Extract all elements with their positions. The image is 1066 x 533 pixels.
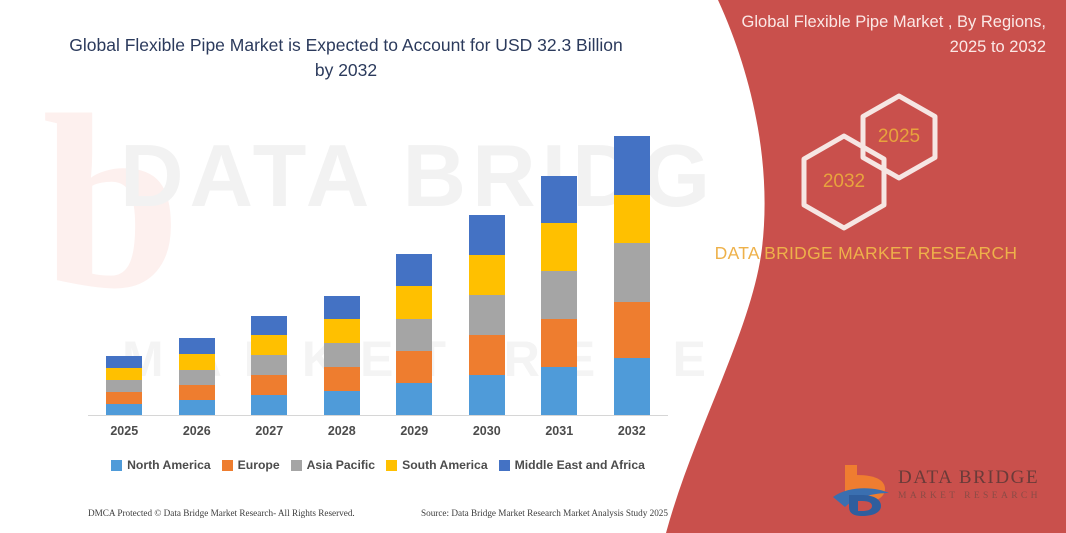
- legend-swatch-icon: [386, 460, 397, 471]
- stacked-bar: [106, 356, 142, 415]
- legend-swatch-icon: [291, 460, 302, 471]
- logo-line-1: DATA BRIDGE: [898, 467, 1041, 489]
- logo-line-2: MARKET RESEARCH: [898, 489, 1041, 503]
- bar-segment: [106, 380, 142, 392]
- chart-panel: Global Flexible Pipe Market is Expected …: [0, 0, 712, 533]
- bar-segment: [324, 319, 360, 343]
- footer-source: Source: Data Bridge Market Research Mark…: [421, 508, 668, 518]
- bar-segment: [396, 254, 432, 286]
- x-axis-label-2032: 2032: [596, 424, 668, 438]
- stacked-bar: [179, 338, 215, 415]
- bar-segment: [614, 195, 650, 243]
- legend-item-north-america[interactable]: North America: [111, 458, 211, 472]
- infographic-root: b DATA BRIDGE MARKET RESEARCH Global Fle…: [0, 0, 1066, 533]
- stacked-bar: [469, 215, 505, 415]
- legend-label: South America: [402, 458, 488, 472]
- x-axis-labels: 20252026202720282029203020312032: [88, 424, 668, 438]
- legend-item-asia-pacific[interactable]: Asia Pacific: [291, 458, 375, 472]
- bar-column-2026: [161, 110, 233, 415]
- bar-segment: [469, 255, 505, 295]
- hexagon-2025: 2025: [854, 92, 944, 182]
- x-axis-label-2030: 2030: [451, 424, 523, 438]
- stacked-bar: [324, 296, 360, 415]
- bar-segment: [541, 319, 577, 367]
- chart-title: Global Flexible Pipe Market is Expected …: [66, 33, 626, 83]
- bar-column-2029: [378, 110, 450, 415]
- bar-column-2031: [523, 110, 595, 415]
- bar-segment: [614, 302, 650, 358]
- bar-segment: [469, 295, 505, 335]
- stacked-bar: [251, 316, 287, 415]
- x-axis-label-2029: 2029: [378, 424, 450, 438]
- stacked-bar: [396, 254, 432, 415]
- bar-segment: [614, 243, 650, 302]
- hexagon-2032-label: 2032: [823, 171, 865, 193]
- bar-segment: [324, 343, 360, 367]
- legend-label: Asia Pacific: [307, 458, 375, 472]
- right-panel-title: Global Flexible Pipe Market , By Regions…: [726, 10, 1046, 60]
- legend-swatch-icon: [499, 460, 510, 471]
- bar-segment: [541, 367, 577, 415]
- bar-segment: [614, 358, 650, 415]
- bar-segment: [396, 351, 432, 383]
- x-axis-label-2026: 2026: [161, 424, 233, 438]
- bar-segment: [324, 391, 360, 415]
- bar-segment: [179, 370, 215, 385]
- bar-segment: [106, 392, 142, 404]
- bar-segment: [251, 355, 287, 375]
- x-axis-label-2031: 2031: [523, 424, 595, 438]
- bar-segment: [179, 338, 215, 354]
- legend-item-middle-east-and-africa[interactable]: Middle East and Africa: [499, 458, 645, 472]
- bar-segment: [396, 286, 432, 319]
- bar-column-2028: [306, 110, 378, 415]
- stacked-bar: [614, 136, 650, 415]
- bar-segment: [179, 354, 215, 370]
- stacked-bar: [541, 176, 577, 415]
- hexagon-group: 2032 2025: [776, 90, 986, 220]
- bar-segment: [179, 385, 215, 400]
- bar-segment: [541, 223, 577, 271]
- bar-segment: [251, 375, 287, 395]
- data-bridge-logo: DATA BRIDGE MARKET RESEARCH: [676, 455, 1056, 525]
- legend-label: Europe: [238, 458, 280, 472]
- bar-column-2030: [451, 110, 523, 415]
- x-axis-label-2028: 2028: [306, 424, 378, 438]
- bar-segment: [179, 400, 215, 415]
- legend-swatch-icon: [222, 460, 233, 471]
- logo-wordmark: DATA BRIDGE MARKET RESEARCH: [898, 467, 1041, 503]
- chart-footer: DMCA Protected © Data Bridge Market Rese…: [88, 508, 668, 518]
- bar-column-2027: [233, 110, 305, 415]
- bar-segment: [541, 271, 577, 319]
- bar-segment: [251, 335, 287, 355]
- bar-segment: [469, 215, 505, 255]
- bar-segment: [251, 316, 287, 335]
- bar-segment: [324, 367, 360, 391]
- bar-segment: [469, 375, 505, 415]
- bar-segment: [396, 319, 432, 351]
- legend-swatch-icon: [111, 460, 122, 471]
- right-red-panel: Global Flexible Pipe Market , By Regions…: [666, 0, 1066, 533]
- footer-copyright: DMCA Protected © Data Bridge Market Rese…: [88, 508, 355, 518]
- bar-segment: [106, 356, 142, 368]
- chart-legend: North AmericaEuropeAsia PacificSouth Ame…: [88, 458, 668, 472]
- bar-column-2032: [596, 110, 668, 415]
- logo-b-mark-icon: [831, 463, 893, 519]
- x-axis-label-2025: 2025: [88, 424, 160, 438]
- x-axis-line: [88, 415, 668, 416]
- legend-item-south-america[interactable]: South America: [386, 458, 488, 472]
- bar-segment: [106, 404, 142, 415]
- hexagon-2025-label: 2025: [878, 126, 920, 148]
- stacked-bar-series: [88, 110, 668, 415]
- x-axis-label-2027: 2027: [233, 424, 305, 438]
- bar-segment: [106, 368, 142, 380]
- brand-name: DATA BRIDGE MARKET RESEARCH: [701, 240, 1031, 267]
- bar-segment: [251, 395, 287, 415]
- bar-segment: [614, 136, 650, 195]
- legend-item-europe[interactable]: Europe: [222, 458, 280, 472]
- bar-segment: [541, 176, 577, 223]
- legend-label: Middle East and Africa: [515, 458, 645, 472]
- legend-label: North America: [127, 458, 211, 472]
- right-panel-content: Global Flexible Pipe Market , By Regions…: [666, 0, 1066, 533]
- bar-column-2025: [88, 110, 160, 415]
- bar-segment: [396, 383, 432, 415]
- bar-segment: [324, 296, 360, 319]
- bar-segment: [469, 335, 505, 375]
